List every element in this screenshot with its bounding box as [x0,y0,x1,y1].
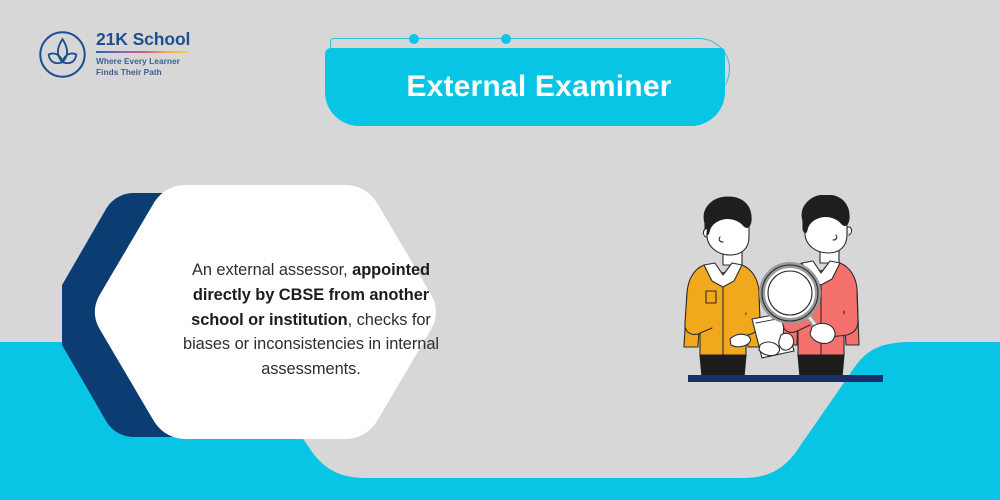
lotus-circle-logo-icon [38,30,87,79]
card-body-text: An external assessor, appointed directly… [180,225,442,415]
logo-tagline-line2: Finds Their Path [96,67,190,78]
two-examiners-illustration [660,195,910,385]
logo-gradient-rule [96,51,188,54]
logo-wordmark: 21K School Where Every Learner Finds The… [96,31,190,77]
banner-dot-2-icon [501,34,511,44]
logo-title: 21K School [96,31,190,49]
brand-logo[interactable]: 21K School Where Every Learner Finds The… [38,30,190,79]
info-card: An external assessor, appointed directly… [62,165,462,465]
title-banner: External Examiner [325,48,725,126]
card-text-content: An external assessor, appointed directly… [180,258,442,383]
banner-dot-1-icon [409,34,419,44]
logo-tagline: Where Every Learner Finds Their Path [96,56,190,77]
logo-tagline-line1: Where Every Learner [96,56,190,67]
page-title: External Examiner [406,70,671,104]
poster-canvas: 21K School Where Every Learner Finds The… [0,0,1000,500]
